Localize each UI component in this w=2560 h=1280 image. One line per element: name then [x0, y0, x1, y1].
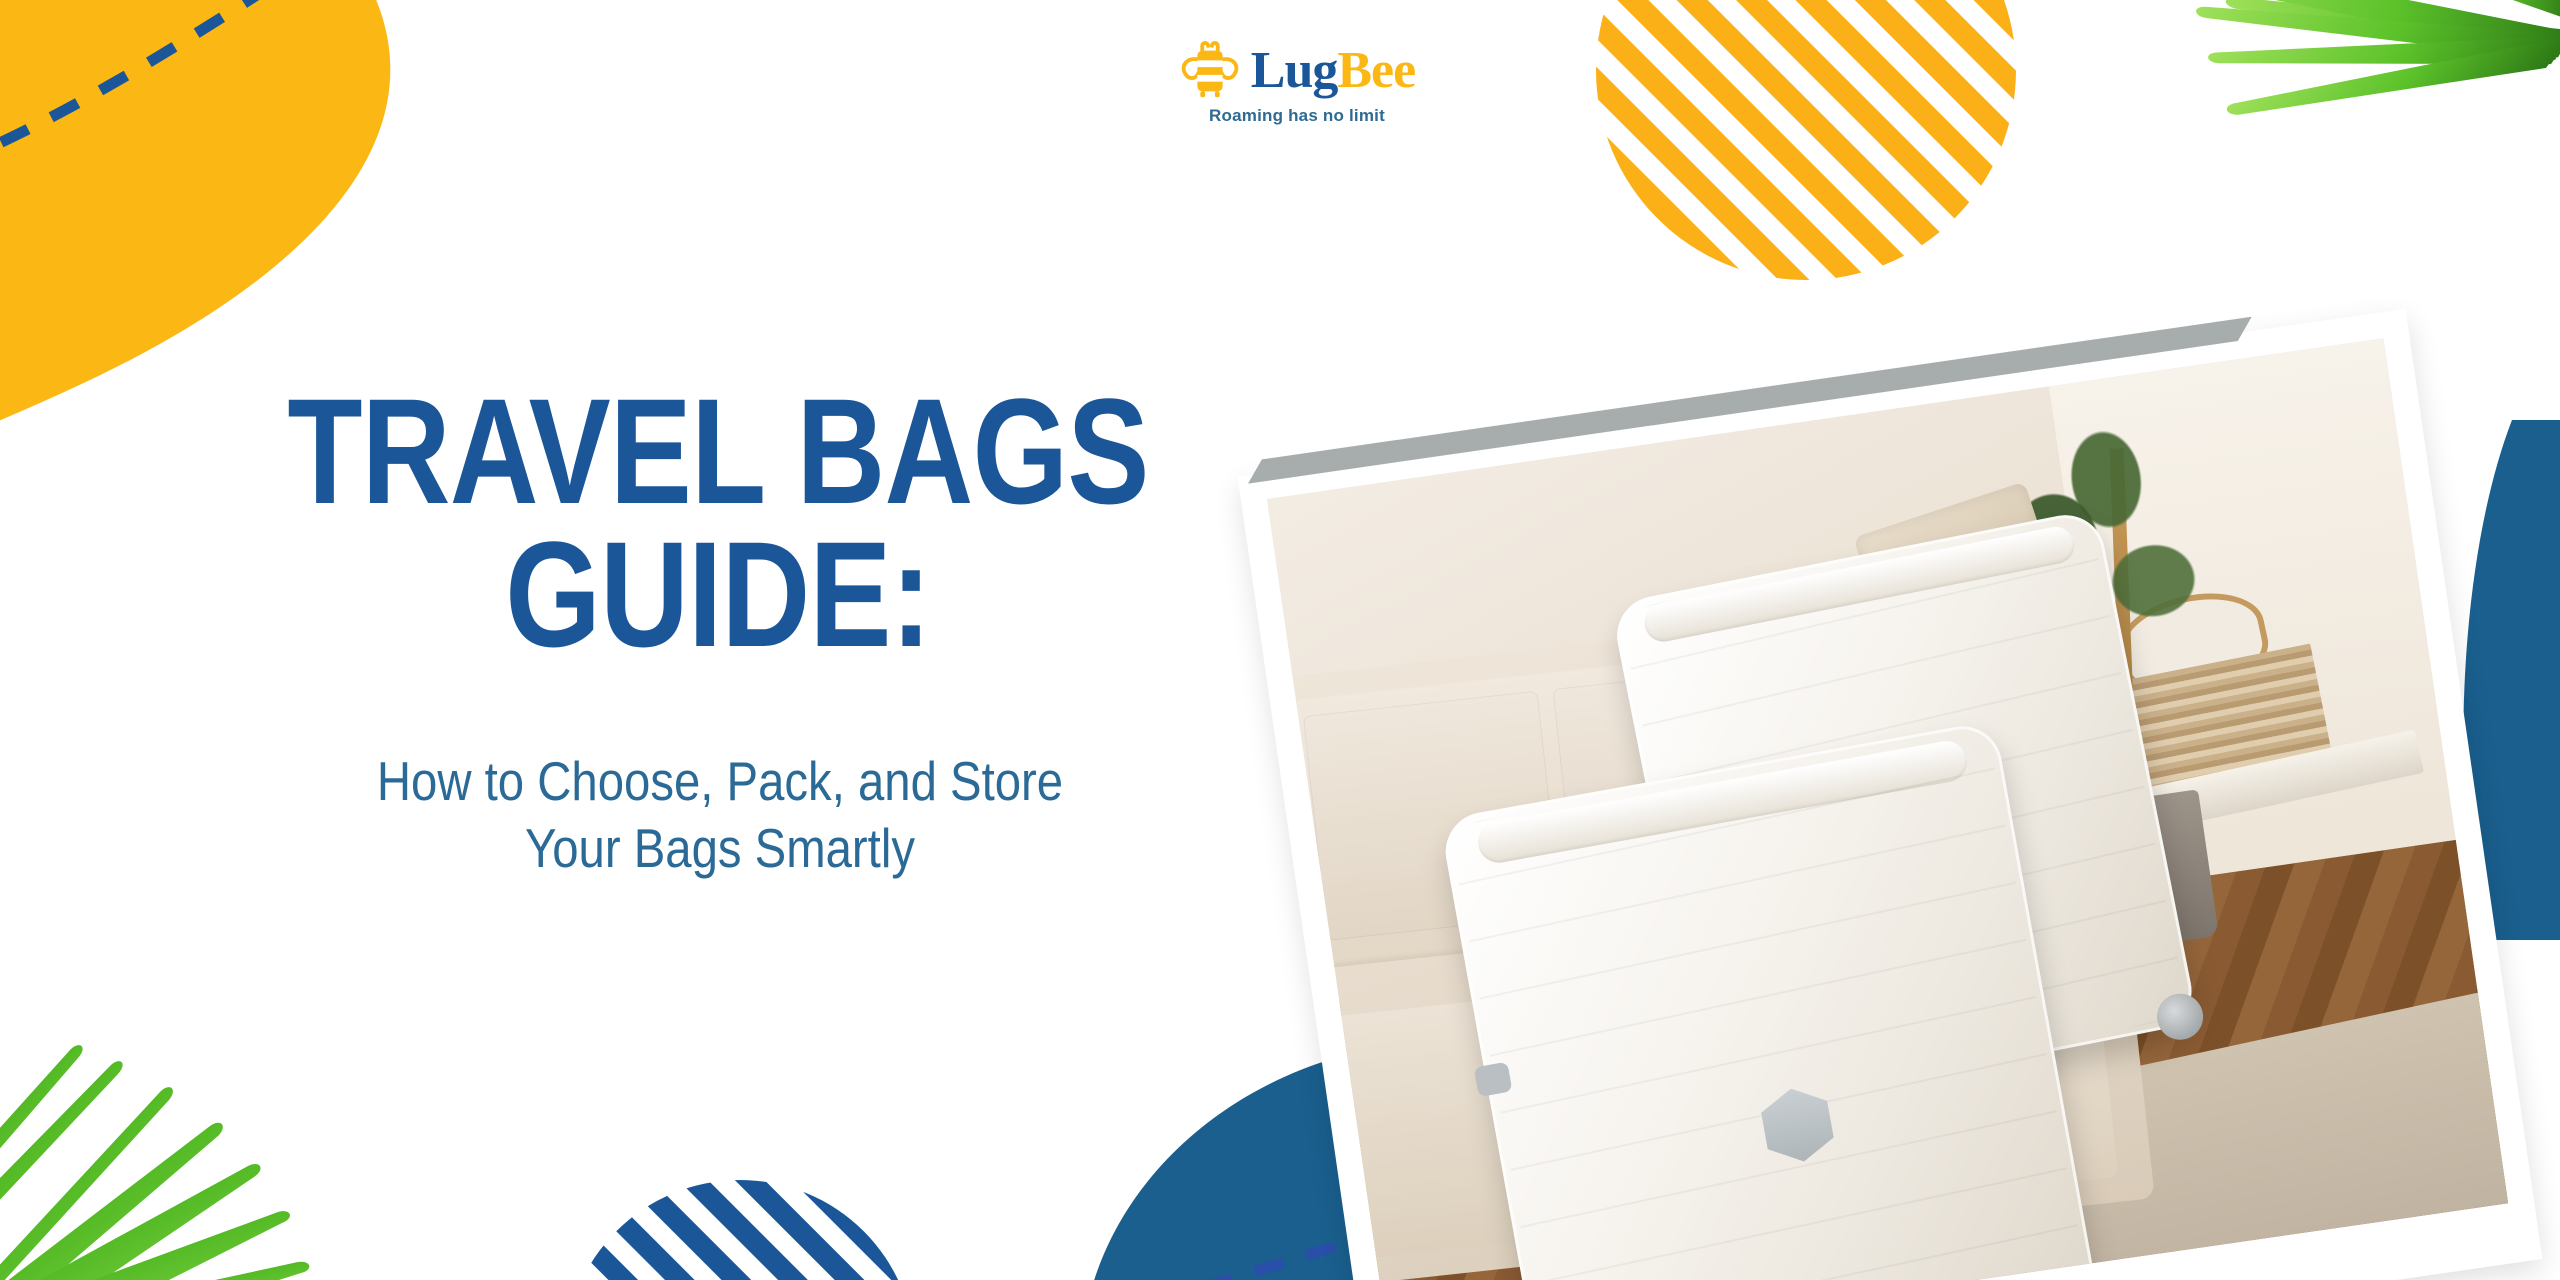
brand-tagline: Roaming has no limit: [1209, 106, 1385, 126]
bee-suitcase-icon: [1179, 40, 1241, 102]
hero-photo-card: [1238, 309, 2543, 1280]
logo-wordmark: LugBee: [1251, 45, 1415, 97]
living-room-scene: [1267, 338, 2508, 1280]
yellow-striped-circle-top: [1596, 0, 2016, 280]
suitcase-foot: [1474, 1061, 1513, 1097]
logo-word-bee: Bee: [1337, 42, 1415, 99]
suitcase-front: [1440, 720, 2100, 1280]
blue-dashed-curve-top-left: [0, 0, 490, 270]
page-subtitle: How to Choose, Pack, and Store Your Bags…: [213, 748, 1228, 882]
suitcase-ribs: [1449, 729, 2091, 1280]
palm-leaf-bottom-left: [0, 1040, 380, 1280]
palm-leaf-top-right: [2130, 0, 2560, 260]
blue-striped-circle-bottom: [560, 1175, 920, 1280]
logo-row: LugBee: [1179, 40, 1415, 102]
page-title: TRAVEL BAGS GUIDE:: [226, 380, 1210, 665]
logo-word-lug: Lug: [1251, 42, 1338, 99]
brand-logo[interactable]: LugBee Roaming has no limit: [1152, 40, 1442, 150]
headline-block: TRAVEL BAGS GUIDE:: [118, 380, 1318, 665]
poster-canvas: LugBee Roaming has no limit TRAVEL BAGS …: [0, 0, 2560, 1280]
hero-photo: [1267, 338, 2508, 1280]
